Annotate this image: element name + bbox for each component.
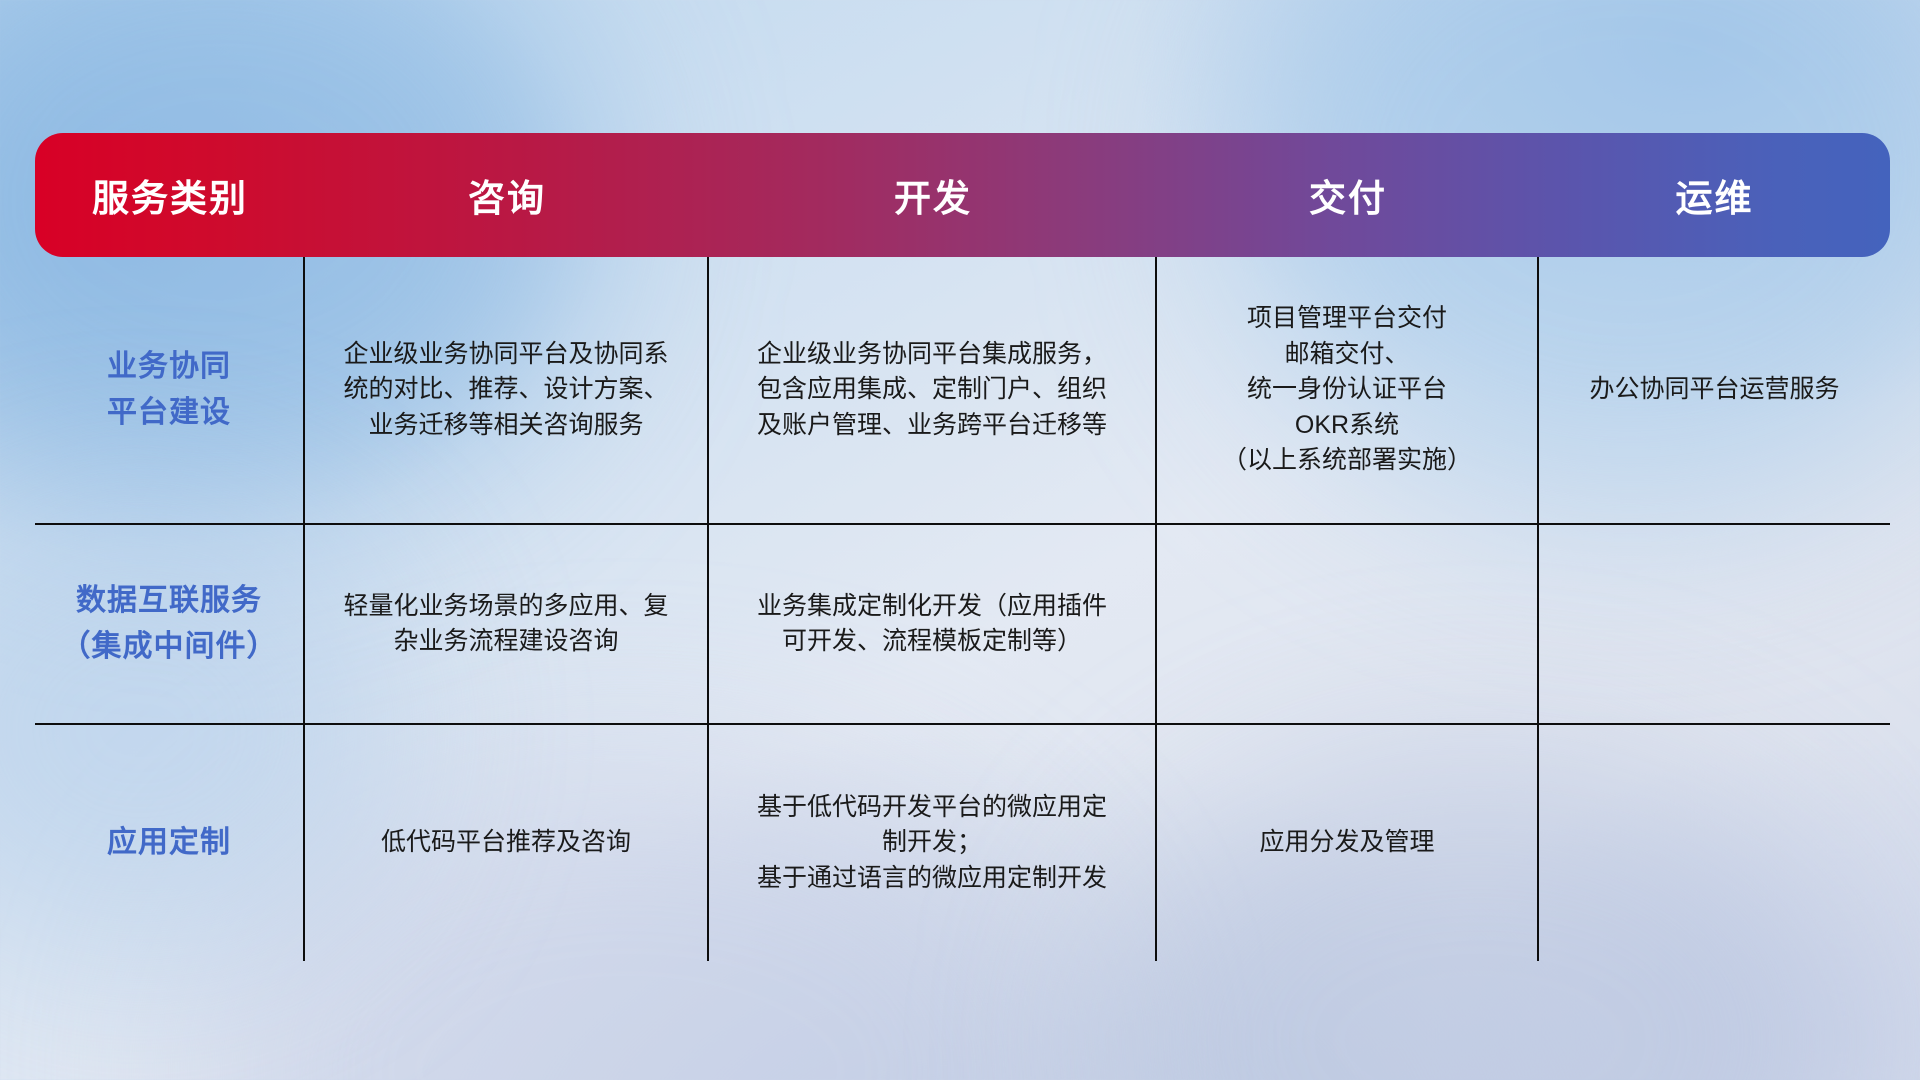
cell-text: 项目管理平台交付 邮箱交付、 统一身份认证平台 OKR系统 （以上系统部署实施） (1175, 301, 1519, 479)
cell-operations (1539, 725, 1890, 961)
column-header-delivery: 交付 (1157, 133, 1539, 257)
table-row: 业务协同 平台建设 企业级业务协同平台及协同系 统的对比、推荐、设计方案、 业务… (35, 257, 1890, 525)
cell-text: 企业级业务协同平台集成服务， 包含应用集成、定制门户、组织 及账户管理、业务跨平… (727, 337, 1137, 444)
row-category-label: 业务协同 平台建设 (35, 257, 305, 525)
table-row: 应用定制 低代码平台推荐及咨询 基于低代码开发平台的微应用定 制开发； 基于通过… (35, 725, 1890, 961)
cell-development: 企业级业务协同平台集成服务， 包含应用集成、定制门户、组织 及账户管理、业务跨平… (709, 257, 1157, 525)
cell-delivery: 项目管理平台交付 邮箱交付、 统一身份认证平台 OKR系统 （以上系统部署实施） (1157, 257, 1539, 525)
column-header-service-category: 服务类别 (35, 133, 305, 257)
service-matrix-table: 服务类别 咨询 开发 交付 运维 业务协同 平台建设 企业级业务协同平台及协同系… (35, 133, 1890, 961)
cell-operations (1539, 525, 1890, 725)
cell-operations: 办公协同平台运营服务 (1539, 257, 1890, 525)
cell-text: 应用分发及管理 (1175, 825, 1519, 861)
cell-delivery: 应用分发及管理 (1157, 725, 1539, 961)
cell-text: 业务集成定制化开发（应用插件 可开发、流程模板定制等） (727, 589, 1137, 660)
cell-development: 基于低代码开发平台的微应用定 制开发； 基于通过语言的微应用定制开发 (709, 725, 1157, 961)
cell-text: 轻量化业务场景的多应用、复 杂业务流程建设咨询 (323, 589, 689, 660)
table-row: 数据互联服务 （集成中间件） 轻量化业务场景的多应用、复 杂业务流程建设咨询 业… (35, 525, 1890, 725)
cell-text: 低代码平台推荐及咨询 (323, 825, 689, 861)
column-header-operations: 运维 (1539, 133, 1890, 257)
cell-consulting: 企业级业务协同平台及协同系 统的对比、推荐、设计方案、 业务迁移等相关咨询服务 (305, 257, 709, 525)
column-header-development: 开发 (709, 133, 1157, 257)
row-category-label: 数据互联服务 （集成中间件） (35, 525, 305, 725)
cell-text: 企业级业务协同平台及协同系 统的对比、推荐、设计方案、 业务迁移等相关咨询服务 (323, 337, 689, 444)
cell-text: 基于低代码开发平台的微应用定 制开发； 基于通过语言的微应用定制开发 (727, 790, 1137, 897)
cell-consulting: 低代码平台推荐及咨询 (305, 725, 709, 961)
row-category-label: 应用定制 (35, 725, 305, 961)
table-header-row: 服务类别 咨询 开发 交付 运维 (35, 133, 1890, 257)
cell-text: 办公协同平台运营服务 (1557, 372, 1872, 408)
cell-delivery (1157, 525, 1539, 725)
cell-consulting: 轻量化业务场景的多应用、复 杂业务流程建设咨询 (305, 525, 709, 725)
column-header-consulting: 咨询 (305, 133, 709, 257)
cell-development: 业务集成定制化开发（应用插件 可开发、流程模板定制等） (709, 525, 1157, 725)
